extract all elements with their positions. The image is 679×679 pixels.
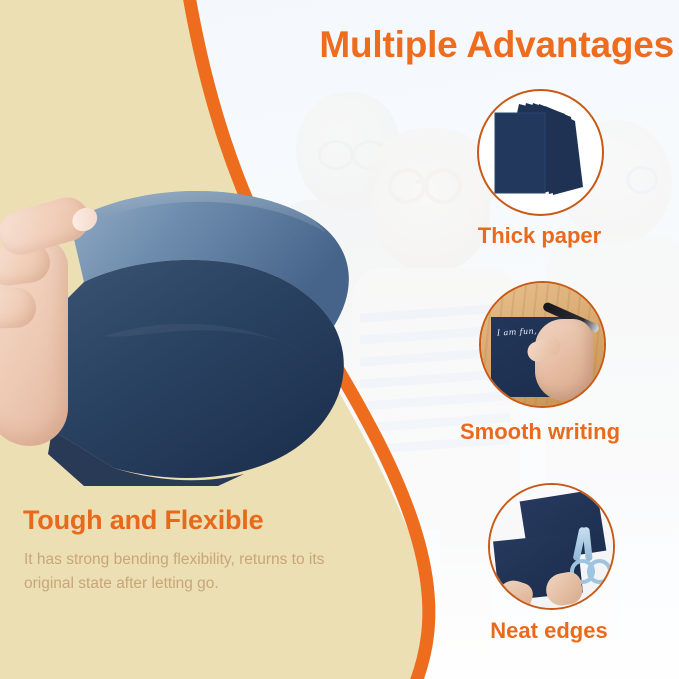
infographic-canvas: Multiple Advantages Tough and Flexible I… [0, 0, 679, 679]
feature-thick-paper-label: Thick paper [476, 223, 603, 249]
feature-smooth-writing-circle: I am fun, and [479, 281, 606, 408]
scissors-handle-right [587, 559, 612, 584]
feature-smooth-writing-label: Smooth writing [459, 419, 621, 445]
paper-stack-icon [479, 91, 602, 214]
feature-neat-edges-circle [488, 483, 615, 610]
writing-hand [535, 319, 593, 401]
fingernail [68, 203, 102, 236]
left-panel-heading: Tough and Flexible [23, 505, 263, 536]
feature-neat-edges-label: Neat edges [486, 618, 612, 644]
left-panel-body-text: It has strong bending flexibility, retur… [24, 548, 344, 595]
page-title: Multiple Advantages [278, 24, 674, 66]
hero-bending-sheet [0, 186, 360, 496]
hand-holding-sheet [0, 192, 102, 454]
feature-thick-paper-circle [477, 89, 604, 216]
